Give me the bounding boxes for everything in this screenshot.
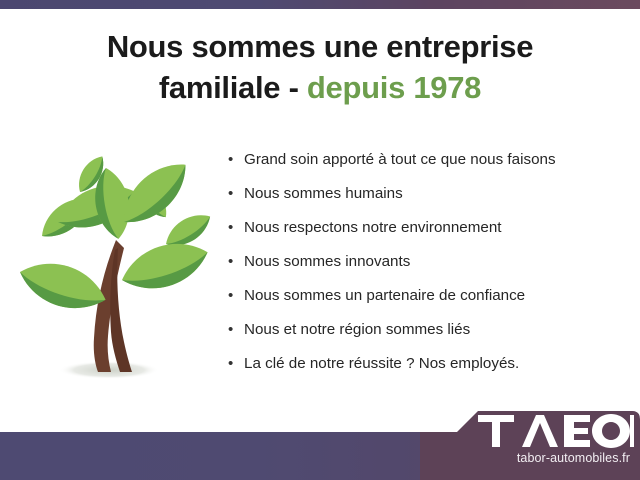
brand-logo[interactable]: tabor-automobiles.fr	[478, 414, 634, 476]
footer-left-bar	[0, 432, 470, 480]
list-item: • La clé de notre réussite ? Nos employé…	[228, 354, 628, 388]
bullet-marker-icon: •	[228, 150, 244, 170]
list-item-label: La clé de notre réussite ? Nos employés.	[244, 354, 519, 374]
bullet-marker-icon: •	[228, 184, 244, 204]
list-item-label: Nous et notre région sommes liés	[244, 320, 470, 340]
bullet-marker-icon: •	[228, 218, 244, 238]
headline-line-2-plain: familiale -	[159, 70, 307, 105]
bullet-marker-icon: •	[228, 252, 244, 272]
page-title: Nous sommes une entreprise familiale - d…	[40, 26, 600, 108]
slide-canvas: Nous sommes une entreprise familiale - d…	[0, 0, 640, 480]
list-item: • Grand soin apporté à tout ce que nous …	[228, 150, 628, 184]
bullet-marker-icon: •	[228, 286, 244, 306]
tree-illustration	[12, 152, 218, 388]
list-item-label: Nous respectons notre environnement	[244, 218, 502, 238]
list-item-label: Grand soin apporté à tout ce que nous fa…	[244, 150, 556, 170]
list-item: • Nous sommes innovants	[228, 252, 628, 286]
list-item-label: Nous sommes humains	[244, 184, 403, 204]
list-item-label: Nous sommes innovants	[244, 252, 410, 272]
list-item: • Nous sommes un partenaire de confiance	[228, 286, 628, 320]
tree-trunk	[94, 240, 132, 372]
logo-tagline: tabor-automobiles.fr	[478, 450, 634, 466]
bullet-marker-icon: •	[228, 320, 244, 340]
top-accent-bar	[0, 0, 640, 9]
bullet-marker-icon: •	[228, 354, 244, 374]
logo-wordmark	[478, 414, 634, 448]
leaf-right-lower	[116, 233, 214, 299]
list-item: • Nous et notre région sommes liés	[228, 320, 628, 354]
headline-line-1: Nous sommes une entreprise	[107, 29, 533, 64]
benefits-list: • Grand soin apporté à tout ce que nous …	[228, 150, 628, 388]
list-item: • Nous respectons notre environnement	[228, 218, 628, 252]
list-item-label: Nous sommes un partenaire de confiance	[244, 286, 525, 306]
list-item: • Nous sommes humains	[228, 184, 628, 218]
headline-accent: depuis 1978	[307, 70, 481, 105]
